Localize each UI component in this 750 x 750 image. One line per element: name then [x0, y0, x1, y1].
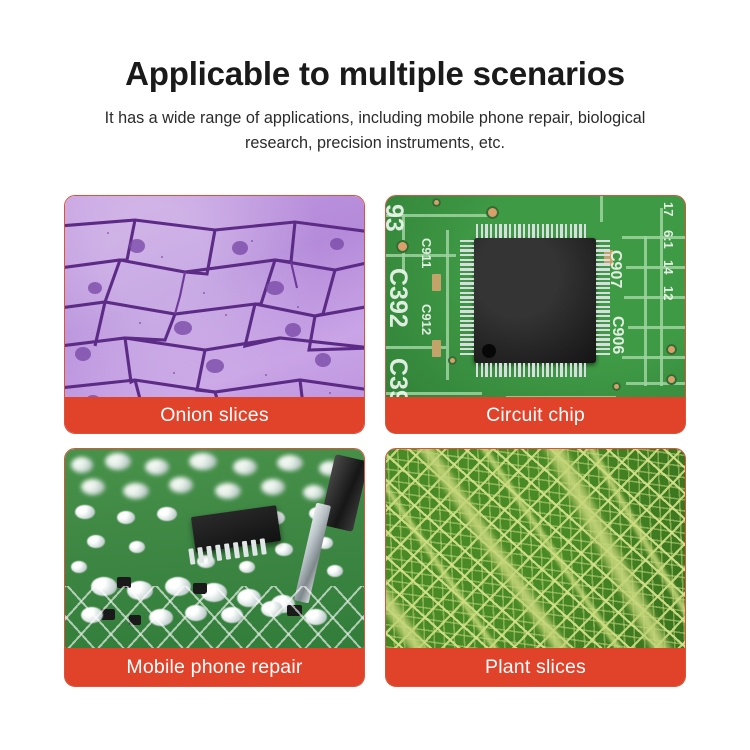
scenario-card-grid: Onion slices	[64, 195, 686, 687]
page-title: Applicable to multiple scenarios	[0, 0, 750, 93]
silkscreen-c912: C912	[419, 304, 434, 335]
scenario-card-circuit-chip[interactable]: 93 C911 C392 C912 C39 C907 C906 17 6:1 1…	[385, 195, 686, 434]
page-header: Applicable to multiple scenarios It has …	[0, 0, 750, 156]
silkscreen-c911: C911	[419, 238, 434, 268]
silkscreen-61: 6:1	[661, 230, 676, 249]
silkscreen-12: 12	[661, 286, 676, 300]
page-subtitle: It has a wide range of applications, inc…	[85, 93, 665, 156]
scenario-card-plant-slices[interactable]: Plant slices	[385, 448, 686, 687]
promo-page: Applicable to multiple scenarios It has …	[0, 0, 750, 750]
scenario-card-onion-slices[interactable]: Onion slices	[64, 195, 365, 434]
scenario-card-mobile-phone-repair[interactable]: Mobile phone repair	[64, 448, 365, 687]
card-label-onion-slices: Onion slices	[65, 397, 364, 433]
card-label-plant-slices: Plant slices	[386, 648, 685, 686]
silkscreen-c906: C906	[608, 316, 626, 354]
silkscreen-c907: C907	[606, 250, 624, 288]
silkscreen-17: 17	[661, 202, 676, 216]
silkscreen-14: 14	[661, 260, 676, 274]
card-label-circuit-chip: Circuit chip	[386, 397, 685, 433]
silkscreen-93: 93	[386, 204, 408, 232]
silkscreen-c392: C392	[386, 268, 412, 328]
card-label-mobile-phone-repair: Mobile phone repair	[65, 648, 364, 686]
